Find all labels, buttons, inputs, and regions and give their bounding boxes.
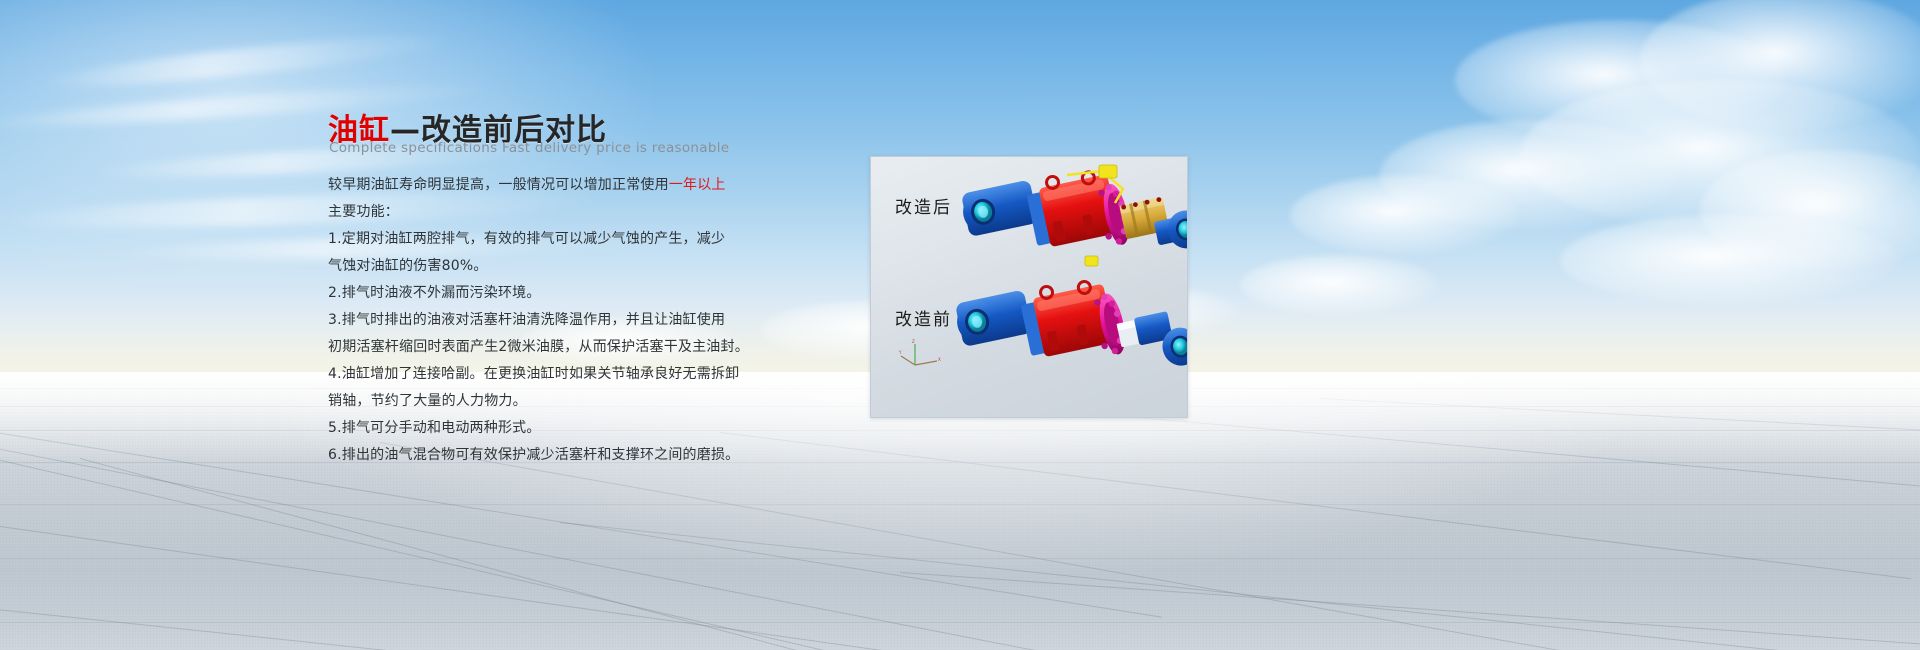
banner-stage: 油缸—改造前后对比 Complete specifications Fast d… (0, 0, 1920, 650)
feature-emphasis: 一年以上 (669, 177, 726, 193)
subtitle: Complete specifications Fast delivery pr… (329, 140, 729, 156)
coordinate-axis-icon: Z X Y (899, 339, 943, 375)
feature-line: 1.定期对油缸两腔排气，有效的排气可以减少气蚀的产生，减少 (328, 226, 758, 253)
feature-line: 6.排出的油气混合物可有效保护减少活塞杆和支撑环之间的磨损。 (328, 442, 758, 469)
feature-line: 主要功能： (328, 199, 758, 226)
feature-line: 销轴，节约了大量的人力物力。 (328, 388, 758, 415)
cylinder-before-render (941, 269, 1188, 389)
feature-line: 4.油缸增加了连接哈副。在更换油缸时如果关节轴承良好无需拆卸 (328, 361, 758, 388)
feature-line: 较早期油缸寿命明显提高，一般情况可以增加正常使用一年以上 (328, 172, 758, 199)
feature-line: 气蚀对油缸的伤害80%。 (328, 253, 758, 280)
feature-line: 5.排气可分手动和电动两种形式。 (328, 415, 758, 442)
banner-content: 油缸—改造前后对比 Complete specifications Fast d… (0, 0, 1920, 650)
feature-text: 较早期油缸寿命明显提高，一般情况可以增加正常使用 (328, 177, 669, 193)
feature-line: 2.排气时油液不外漏而污染环境。 (328, 280, 758, 307)
feature-list: 较早期油缸寿命明显提高，一般情况可以增加正常使用一年以上 主要功能： 1.定期对… (328, 172, 758, 469)
cylinder-after-render (947, 159, 1188, 279)
label-after: 改造后 (895, 193, 952, 218)
svg-text:Y: Y (899, 350, 902, 355)
comparison-image-panel: 改造后 改造前 Z X Y (870, 156, 1188, 418)
feature-line: 初期活塞杆缩回时表面产生2微米油膜，从而保护活塞干及主油封。 (328, 334, 758, 361)
svg-text:Z: Z (912, 339, 915, 344)
feature-line: 3.排气时排出的油液对活塞杆油清洗降温作用，并且让油缸使用 (328, 307, 758, 334)
